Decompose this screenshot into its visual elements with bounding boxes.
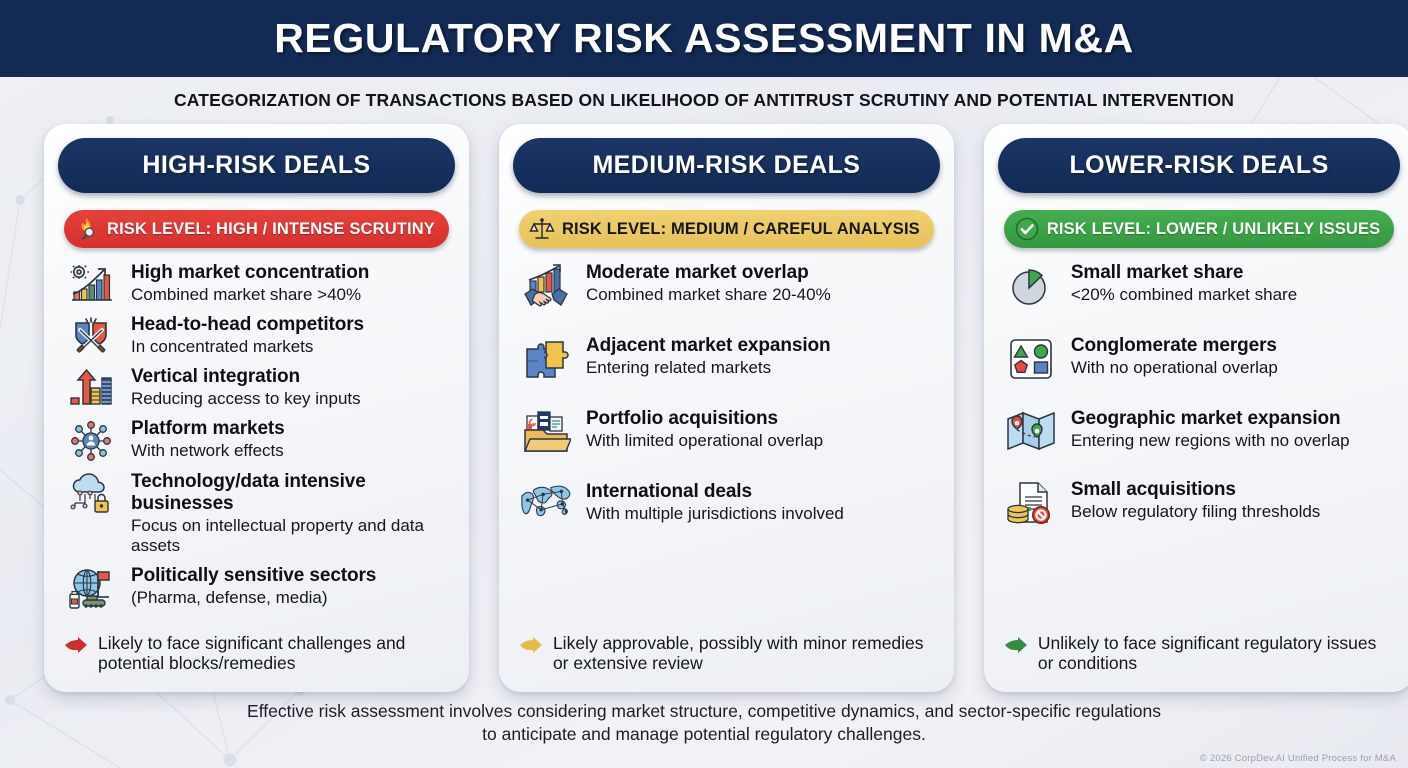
footer: Effective risk assessment involves consi… (0, 692, 1408, 768)
item-title: Small market share (1071, 262, 1396, 284)
item-subtitle: (Pharma, defense, media) (131, 588, 451, 608)
world-map-connections-icon (519, 481, 573, 523)
item-subtitle: With limited operational overlap (586, 431, 936, 451)
item-subtitle: Combined market share >40% (131, 285, 451, 305)
portfolio-folder-icon (519, 408, 573, 454)
list-item: Technology/data intensive businesses Foc… (64, 471, 451, 556)
puzzle-pieces-icon (519, 335, 573, 381)
list-item: Politically sensitive sectors (Pharma, d… (64, 565, 451, 611)
list-item: Adjacent market expansion Entering relat… (519, 335, 936, 381)
item-subtitle: Combined market share 20-40% (586, 285, 936, 305)
gold-arrow-icon (519, 633, 543, 654)
header-band: REGULATORY RISK ASSESSMENT IN M&A (0, 0, 1408, 77)
document-coins-blocked-icon (1004, 479, 1058, 525)
item-subtitle: In concentrated markets (131, 337, 451, 357)
page-subtitle: CATEGORIZATION OF TRANSACTIONS BASED ON … (174, 90, 1234, 111)
infographic-page: REGULATORY RISK ASSESSMENT IN M&A CATEGO… (0, 0, 1408, 768)
item-subtitle: Focus on intellectual property and data … (131, 516, 451, 556)
red-arrow-icon (64, 633, 88, 654)
risk-badge-label: RISK LEVEL: MEDIUM / CAREFUL ANALYSIS (562, 220, 920, 239)
list-item: High market concentration Combined marke… (64, 262, 451, 305)
outcome-high-risk: Likely to face significant challenges an… (58, 633, 455, 682)
item-title: Small acquisitions (1071, 479, 1396, 501)
card-lower-risk: LOWER-RISK DEALS RISK LEVEL: LOWER / UNL… (984, 124, 1408, 692)
network-hub-icon (64, 418, 118, 462)
list-item: Conglomerate mergers With no operational… (1004, 335, 1396, 381)
handshake-chart-icon (519, 262, 573, 308)
gear-growth-chart-icon (64, 262, 118, 304)
outcome-text: Likely to face significant challenges an… (98, 633, 451, 674)
item-title: Adjacent market expansion (586, 335, 936, 357)
card-high-risk: HIGH-RISK DEALS RISK LEVEL: HIGH / INTEN… (44, 124, 469, 692)
item-subtitle: Entering related markets (586, 358, 936, 378)
list-item: Portfolio acquisitions With limited oper… (519, 408, 936, 454)
check-circle-icon (1014, 216, 1040, 242)
fire-magnifier-icon (74, 216, 100, 242)
card-header-label: HIGH-RISK DEALS (142, 151, 370, 180)
risk-columns: HIGH-RISK DEALS RISK LEVEL: HIGH / INTEN… (0, 124, 1408, 692)
risk-badge-label: RISK LEVEL: LOWER / UNLIKELY ISSUES (1047, 220, 1380, 239)
list-item: International deals With multiple jurisd… (519, 481, 936, 524)
item-title: Head-to-head competitors (131, 314, 451, 336)
card-header-label: MEDIUM-RISK DEALS (592, 151, 860, 180)
list-item: Small acquisitions Below regulatory fili… (1004, 479, 1396, 525)
mixed-shapes-icon (1004, 335, 1058, 381)
subtitle-row: CATEGORIZATION OF TRANSACTIONS BASED ON … (0, 77, 1408, 124)
item-subtitle: Reducing access to key inputs (131, 389, 451, 409)
crossed-shields-swords-icon (64, 314, 118, 356)
copyright-notice: © 2026 CorpDev.AI Unified Process for M&… (1200, 753, 1396, 764)
cloud-data-lock-icon (64, 471, 118, 515)
risk-badge-medium: RISK LEVEL: MEDIUM / CAREFUL ANALYSIS (519, 210, 934, 248)
item-title: Moderate market overlap (586, 262, 936, 284)
item-subtitle: With multiple jurisdictions involved (586, 504, 936, 524)
item-list-lower-risk: Small market share <20% combined market … (998, 262, 1400, 633)
folded-map-pins-icon (1004, 408, 1058, 452)
pie-chart-icon (1004, 262, 1058, 308)
footer-line-2: to anticipate and manage potential regul… (0, 723, 1408, 746)
item-title: Geographic market expansion (1071, 408, 1396, 430)
card-header-lower-risk: LOWER-RISK DEALS (998, 138, 1400, 193)
page-title: REGULATORY RISK ASSESSMENT IN M&A (274, 15, 1134, 62)
risk-badge-lower: RISK LEVEL: LOWER / UNLIKELY ISSUES (1004, 210, 1394, 248)
outcome-text: Unlikely to face significant regulatory … (1038, 633, 1396, 674)
footer-line-1: Effective risk assessment involves consi… (0, 700, 1408, 723)
outcome-text: Likely approvable, possibly with minor r… (553, 633, 936, 674)
item-title: International deals (586, 481, 936, 503)
card-medium-risk: MEDIUM-RISK DEALS RISK LEVEL: MEDIUM / C… (499, 124, 954, 692)
card-header-high-risk: HIGH-RISK DEALS (58, 138, 455, 193)
outcome-medium-risk: Likely approvable, possibly with minor r… (513, 633, 940, 682)
list-item: Vertical integration Reducing access to … (64, 366, 451, 409)
list-item: Platform markets With network effects (64, 418, 451, 462)
outcome-lower-risk: Unlikely to face significant regulatory … (998, 633, 1400, 682)
item-list-high-risk: High market concentration Combined marke… (58, 262, 455, 633)
risk-badge-label: RISK LEVEL: HIGH / INTENSE SCRUTINY (107, 220, 435, 239)
green-arrow-icon (1004, 633, 1028, 654)
item-title: Vertical integration (131, 366, 451, 388)
item-title: Portfolio acquisitions (586, 408, 936, 430)
item-subtitle: Below regulatory filing thresholds (1071, 502, 1396, 522)
item-title: Platform markets (131, 418, 451, 440)
item-subtitle: With no operational overlap (1071, 358, 1396, 378)
list-item: Head-to-head competitors In concentrated… (64, 314, 451, 357)
item-subtitle: Entering new regions with no overlap (1071, 431, 1396, 451)
item-title: Politically sensitive sectors (131, 565, 451, 587)
risk-badge-high: RISK LEVEL: HIGH / INTENSE SCRUTINY (64, 210, 449, 248)
globe-flag-tank-icon (64, 565, 118, 611)
item-subtitle: With network effects (131, 441, 451, 461)
list-item: Moderate market overlap Combined market … (519, 262, 936, 308)
list-item: Small market share <20% combined market … (1004, 262, 1396, 308)
item-subtitle: <20% combined market share (1071, 285, 1396, 305)
upward-arrow-stack-icon (64, 366, 118, 408)
balance-scale-icon (529, 216, 555, 242)
item-title: Technology/data intensive businesses (131, 471, 451, 515)
item-title: Conglomerate mergers (1071, 335, 1396, 357)
card-header-medium-risk: MEDIUM-RISK DEALS (513, 138, 940, 193)
item-title: High market concentration (131, 262, 451, 284)
list-item: Geographic market expansion Entering new… (1004, 408, 1396, 452)
item-list-medium-risk: Moderate market overlap Combined market … (513, 262, 940, 633)
card-header-label: LOWER-RISK DEALS (1069, 151, 1328, 180)
